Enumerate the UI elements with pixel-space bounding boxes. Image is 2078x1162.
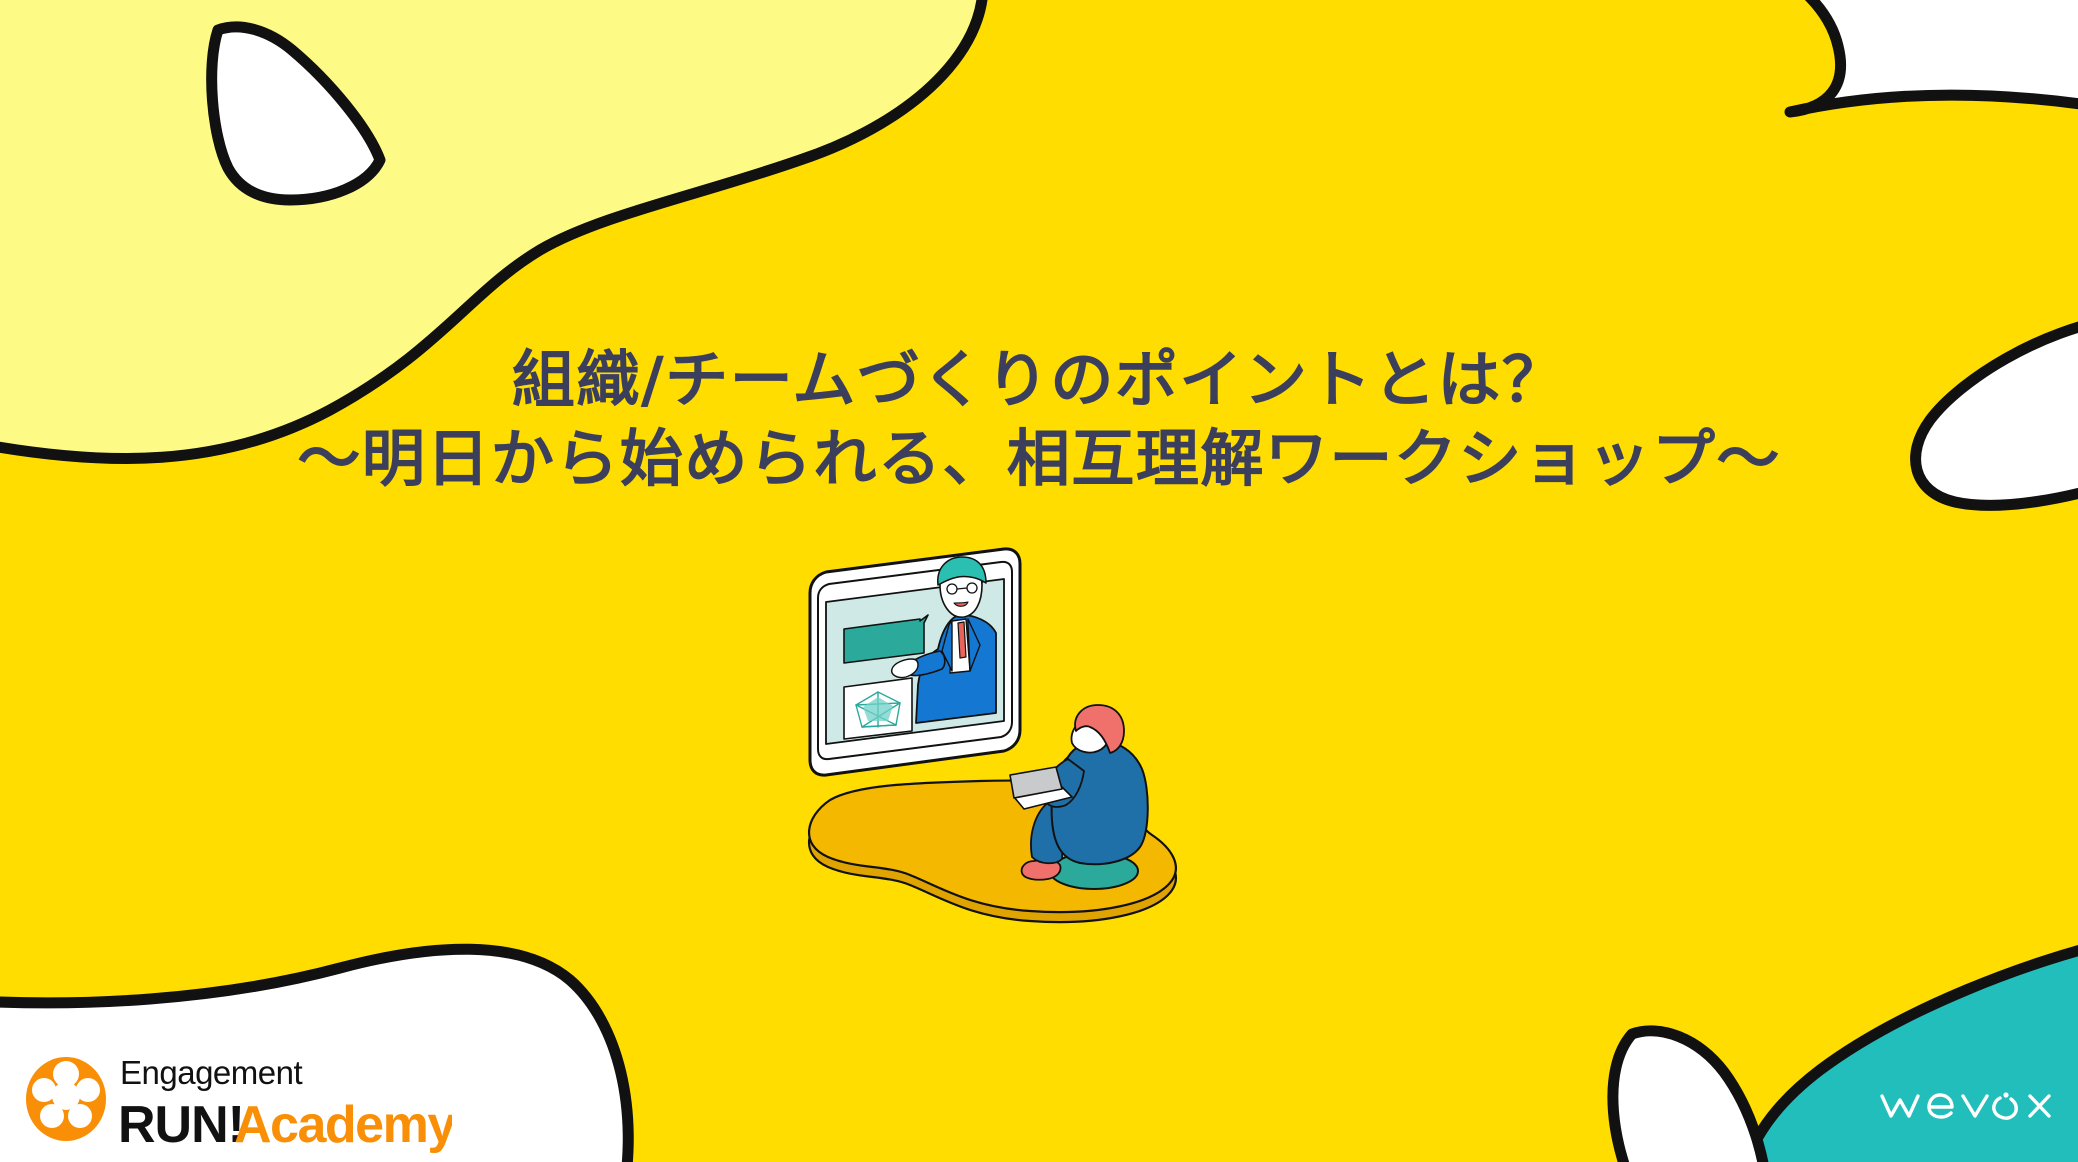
- wevox-logo-graphic: [1878, 1082, 2053, 1128]
- wevox-letter-w: [1882, 1096, 1918, 1116]
- presenter-tie: [958, 622, 966, 658]
- wevox-letter-e: [1929, 1095, 1952, 1117]
- logo-run-text: RUN!: [118, 1096, 244, 1154]
- online-workshop-illustration: [800, 545, 1300, 935]
- logo-academy-text: Academy: [234, 1096, 452, 1154]
- logo-graphic: Engagement RUN! Academy: [22, 1036, 452, 1162]
- engagement-run-academy-logo[interactable]: Engagement RUN! Academy: [22, 1036, 452, 1162]
- attendee-figure: [1010, 705, 1148, 889]
- wevox-logo[interactable]: [1878, 1082, 2053, 1128]
- slide-canvas: 組織/チームづくりのポイントとは？ 〜明日から始められる、相互理解ワークショップ…: [0, 0, 2078, 1162]
- wevox-letter-v: [1963, 1096, 1987, 1116]
- wevox-o-dot: [2003, 1092, 2008, 1097]
- wevox-letter-x: [2030, 1096, 2049, 1116]
- wevox-letter-o: [1994, 1098, 2016, 1118]
- logo-line-1: Engagement: [120, 1054, 302, 1091]
